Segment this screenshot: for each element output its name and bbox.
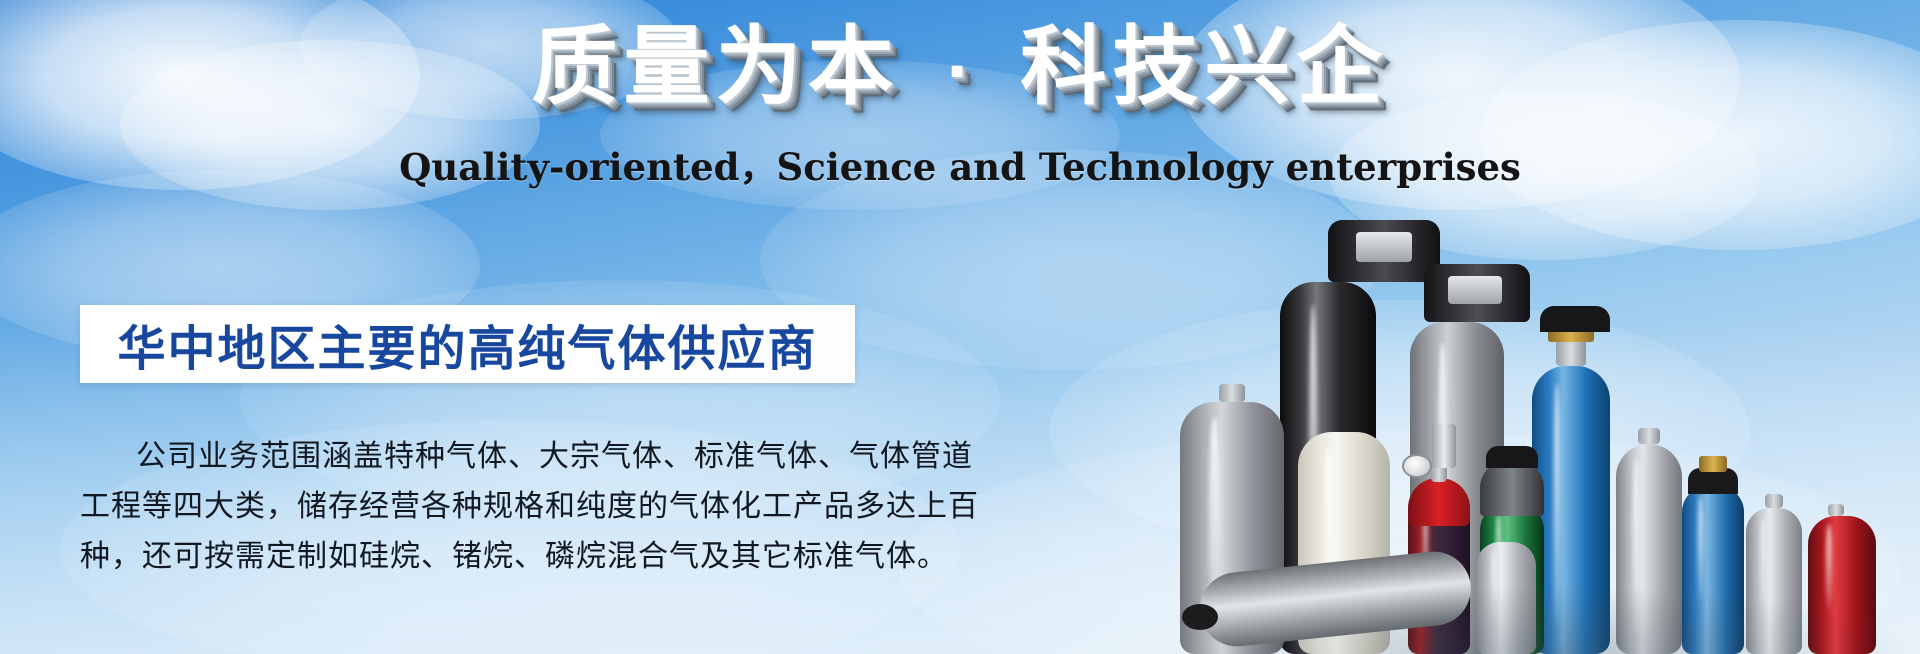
cylinder-cap-window [1448, 276, 1502, 304]
cylinder-neck [1765, 494, 1783, 508]
headline-separator-dot: · [936, 37, 985, 107]
slogan-box: 华中地区主要的高纯气体供应商 [80, 305, 855, 383]
headline-right-phrase: 科技兴企 [1020, 17, 1388, 117]
cylinder-neck [1828, 504, 1844, 516]
company-description-paragraph: 公司业务范围涵盖特种气体、大宗气体、标准气体、气体管道 工程等四大类，储存经营各… [80, 432, 890, 582]
cylinder-valve-brass [1699, 456, 1727, 472]
gas-company-banner: 质量为本 · 科技兴企 Quality-oriented，Science and… [0, 0, 1920, 654]
paragraph-line: 工程等四大类，储存经营各种规格和纯度的气体化工产品多达上百 [80, 482, 890, 532]
cylinder-green-top [1480, 460, 1544, 516]
slogan-text: 华中地区主要的高纯气体供应商 [117, 309, 817, 379]
cylinder-neck [1638, 428, 1660, 444]
gas-cylinder-group-image [1180, 124, 1920, 654]
cylinder-valve-guard [1486, 446, 1538, 468]
cylinder-pressure-gauge [1402, 454, 1432, 478]
paragraph-line: 公司业务范围涵盖特种气体、大宗气体、标准气体、气体管道 [80, 432, 890, 482]
cylinder-regulator [1432, 424, 1456, 468]
banner-headline: 质量为本 · 科技兴企 [0, 22, 1920, 112]
cylinder-cap-window [1356, 232, 1412, 262]
cylinder-neck [1219, 384, 1245, 402]
headline-left-phrase: 质量为本 [532, 17, 900, 117]
paragraph-line: 种，还可按需定制如硅烷、锗烷、磷烷混合气及其它标准气体。 [80, 532, 890, 582]
cylinder-neck [1556, 338, 1586, 366]
cylinder-valve-guard [1540, 306, 1610, 332]
cylinder-ground-shadow [1180, 584, 1920, 654]
